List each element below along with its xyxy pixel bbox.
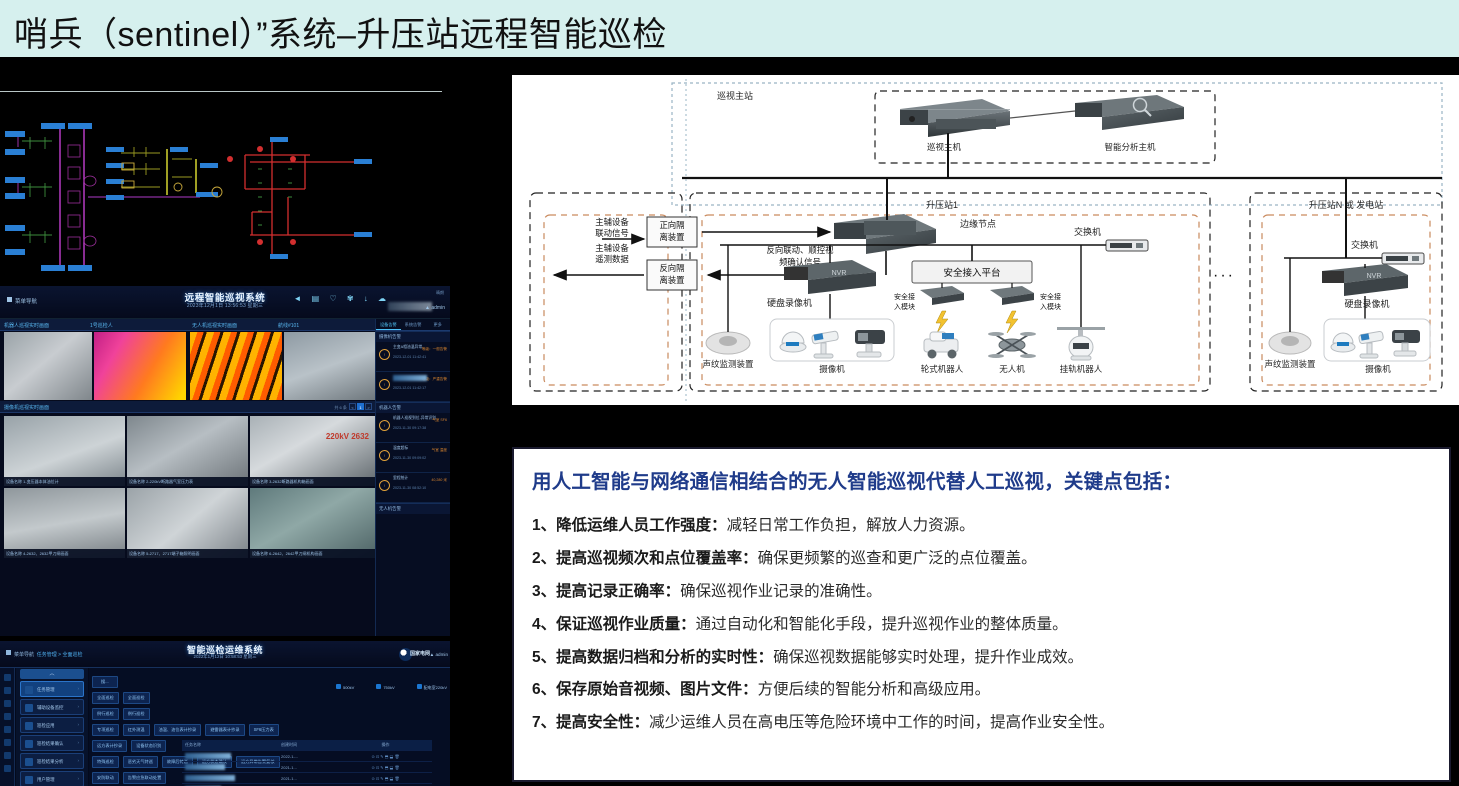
th-actions: 操作 xyxy=(336,742,432,748)
ris-robot-label: 机器人巡视实时画面 xyxy=(4,322,49,329)
key-point-num: 2、 xyxy=(532,550,556,567)
alarm-group-drone: 无人机告警 xyxy=(376,503,450,514)
om-user-label[interactable]: ▲ admin xyxy=(430,652,448,657)
th-task-name: 任务名称 xyxy=(182,742,278,748)
key-point-num: 5、 xyxy=(532,649,556,666)
tab-system-alarm[interactable]: 系统告警 xyxy=(401,319,426,330)
user-icon xyxy=(25,776,33,784)
label-switch-station1: 交换机 xyxy=(1074,226,1101,237)
key-point-num: 3、 xyxy=(532,583,556,600)
ris-page-count: 共 6 条 xyxy=(334,405,346,410)
sidebar-item-inspection-app[interactable]: 巡检应用› xyxy=(20,717,84,733)
video-tile-drone-thermal[interactable] xyxy=(190,332,282,400)
sidebar-item-label: 巡检结果分析 xyxy=(37,759,63,765)
tab-sf6[interactable]: SF6压力表 xyxy=(249,724,279,736)
sidebar-item-result-confirm[interactable]: 巡检结果确认› xyxy=(20,735,84,751)
alarm-time: 2023-11-30 09:17:38 xyxy=(393,426,447,430)
voltage-filter-750[interactable]: 750kV xyxy=(376,684,394,691)
alarm-icon: ! xyxy=(379,420,390,431)
tab-full-inspection-sub[interactable]: 全面巡检 xyxy=(123,692,150,704)
key-points-panel: 用人工智能与网络通信相结合的无人智能巡视代替人工巡视，关键点包括： 1、降低运维… xyxy=(512,447,1451,782)
key-point-item: 5、提高数据归档和分析的实时性：确保巡视数据能够实时处理，提升作业成效。 xyxy=(532,648,1431,667)
header-divider xyxy=(0,57,1459,69)
sidebar-item-label: 任务管理 xyxy=(37,687,55,693)
rail-icon xyxy=(4,739,11,746)
key-point-num: 1、 xyxy=(532,517,556,534)
chevron-right-icon: › xyxy=(78,704,79,709)
label-secure-module-2a: 安全接 xyxy=(1040,292,1061,301)
ris-drone-sublabel: 航线#101 xyxy=(278,322,299,329)
key-point-desc: 确保巡视数据能够实时处理，提升作业成效。 xyxy=(773,649,1083,666)
label-switch-station-n: 交换机 xyxy=(1351,239,1378,250)
tab-row-3: 专项巡检 红外测温 油温、油位表计抄录 避雷器表计抄录 SF6压力表 xyxy=(89,722,450,738)
stations-ellipsis: ··· xyxy=(1213,267,1235,284)
alarm-time: 2023-12-01 11:42:41 xyxy=(393,355,447,359)
tab-full-inspection[interactable]: 全面巡检 xyxy=(92,692,119,704)
tab-special-inspection[interactable]: 专项巡检 xyxy=(92,724,119,736)
camera-tile-4[interactable]: 设备名称 4-2632、2632甲刀闸画面 xyxy=(4,488,125,558)
sidebar-item-result-analysis[interactable]: 巡检结果分析› xyxy=(20,753,84,769)
sidebar-item-label: 巡检结果确认 xyxy=(37,741,63,747)
tab-routine-inspection-sub[interactable]: 例行巡检 xyxy=(123,708,150,720)
ris-alarm-sidebar: 设备告警 系统告警 更多 摄像机告警 ! 等级：一般告警 主变A相油温异常 20… xyxy=(375,319,450,636)
wireless-bolt-icon-1 xyxy=(936,311,948,333)
ris-datetime: 2023年12月1日 13:56:53 星期三 xyxy=(0,302,450,309)
om-search-input[interactable]: 搜... xyxy=(92,676,118,688)
sidebar-item-label: 用户管理 xyxy=(37,777,55,783)
pager-page-1[interactable]: 1 xyxy=(357,403,364,410)
om-datetime: 2022年1月12日 10:58:53 星期三 xyxy=(0,654,450,660)
sidebar-item-task-management[interactable]: 任务管理› xyxy=(20,681,84,697)
camera-caption-5: 设备名称 5-2717、2717端子箱照明画面 xyxy=(127,549,248,558)
key-point-desc: 确保巡视作业记录的准确性。 xyxy=(680,583,882,600)
sidebar-item-label: 巡检应用 xyxy=(37,723,55,729)
camera-tile-1[interactable]: 设备名称 1-变压器本体油位计 xyxy=(4,416,125,486)
label-nvr-station1: 硬盘录像机 xyxy=(767,297,812,308)
video-tile-robot-thermal[interactable] xyxy=(94,332,186,400)
ris-drone-section-bar: 无人机巡视实时画面 航线#101 xyxy=(188,319,375,331)
alarm-item[interactable]: ! 等级：一般告警 主变A相油温异常 2023-12-01 11:42:41 xyxy=(376,342,450,372)
architecture-diagram-panel: 巡视主站 巡视主机 智能分析主机 xyxy=(512,75,1459,405)
node-switch-station-n xyxy=(1382,253,1424,264)
ris-top-bar: 菜单导航 远程智能巡视系统 2023年12月1日 13:56:53 星期三 ◄ … xyxy=(0,286,450,319)
key-point-item: 2、提高巡视频次和点位覆盖率：确保更频繁的巡查和更广泛的点位覆盖。 xyxy=(532,549,1431,568)
alarm-icon: ! xyxy=(379,379,390,390)
key-point-item: 1、降低运维人员工作强度：减轻日常工作负担，解放人力资源。 xyxy=(532,516,1431,535)
key-point-bold: 提高巡视频次和点位覆盖率： xyxy=(556,550,758,567)
label-secure-module-2b: 入模块 xyxy=(1040,302,1061,311)
chevron-right-icon: › xyxy=(78,686,79,691)
camera-caption-1: 设备名称 1-变压器本体油位计 xyxy=(4,477,125,486)
label-main-station: 巡视主站 xyxy=(717,90,753,101)
label-nvr-badge-n: NVR xyxy=(1367,273,1382,280)
tab-special[interactable]: 特殊巡检 xyxy=(92,756,119,768)
label-secure-module-1b: 入模块 xyxy=(894,302,915,311)
label-drone: 无人机 xyxy=(999,364,1025,374)
key-point-bold: 保证巡视作业质量： xyxy=(556,616,696,633)
label-nvr-station-n: 硬盘录像机 xyxy=(1344,298,1389,309)
tab-oil-meter[interactable]: 油温、油位表计抄录 xyxy=(154,724,202,736)
label-nvr-badge: NVR xyxy=(832,270,847,277)
task-icon xyxy=(25,686,33,694)
tab-row-2: 例行巡检 例行巡检 xyxy=(89,706,450,722)
key-point-item: 3、提高记录正确率：确保巡视作业记录的准确性。 xyxy=(532,582,1431,601)
ris-robot-sublabel: 1号巡检人 xyxy=(90,322,113,329)
video-tile-drone-visible[interactable] xyxy=(284,332,375,400)
tab-emergency-handling[interactable]: 告警应急联动处置 xyxy=(123,772,167,784)
ris-user-label[interactable]: ▲ admin xyxy=(425,305,445,311)
checkbox-icon[interactable] xyxy=(376,684,381,689)
node-nvr-station-n: NVR xyxy=(1322,264,1408,296)
monitor-icon xyxy=(25,704,33,712)
ris-toolbar-icons[interactable]: ◄ ▤ ♡ ✾ ↓ ☁ xyxy=(294,294,390,303)
voltage-filter-group: 500kV 750kV 配电室220kV xyxy=(336,684,447,691)
camera-tile-6[interactable]: 设备名称 6-2642、2642甲刀闸机构画面 xyxy=(250,488,375,558)
om-top-bar: 菜单导航 任务管理 > 全面巡检 智能巡检运维系统 2022年1月12日 10:… xyxy=(0,641,450,668)
alarm-icon: ! xyxy=(379,349,390,360)
om-system-screenshot: 菜单导航 任务管理 > 全面巡检 智能巡检运维系统 2022年1月12日 10:… xyxy=(0,641,450,786)
alarm-item[interactable]: ! 40,280 米 里程统计 2023-11-30 08:52:10 xyxy=(376,473,450,503)
label-wheeled-robot: 轮式机器人 xyxy=(921,364,964,374)
label-reverse-isolation-2: 离装置 xyxy=(659,275,684,285)
tab-state-recognition[interactable]: 设备状态识别 xyxy=(131,740,166,752)
key-point-bold: 提高安全性： xyxy=(556,714,649,731)
label-camera-station1: 摄像机 xyxy=(819,364,845,374)
key-point-item: 4、保证巡视作业质量：通过自动化和智能化手段，提升巡视作业的整体质量。 xyxy=(532,615,1431,634)
chevron-right-icon: › xyxy=(78,776,79,781)
alarm-icon: ! xyxy=(379,480,390,491)
ris-robot-section-bar: 机器人巡视实时画面 1号巡检人 xyxy=(0,319,188,331)
app-icon xyxy=(25,722,33,730)
tab-routine-inspection[interactable]: 例行巡检 xyxy=(92,708,119,720)
node-secure-module-1 xyxy=(920,286,964,305)
sidebar-item-user-management[interactable]: 用户管理› xyxy=(20,771,84,786)
label-telemetry-2: 遥测数据 xyxy=(595,254,629,264)
rail-icon xyxy=(4,674,11,681)
om-task-table: 任务名称 创建时间 操作 2022-1-...⊙ ⊡ ✎ ⬒ ⬓ 🗑 2021-… xyxy=(182,740,432,786)
key-point-desc: 减轻日常工作负担，解放人力资源。 xyxy=(727,517,975,534)
table-header-row: 任务名称 创建时间 操作 xyxy=(182,740,432,751)
key-point-num: 7、 xyxy=(532,714,556,731)
alarm-icon: ! xyxy=(379,450,390,461)
node-wheeled-robot xyxy=(924,332,958,359)
om-brand-label: 国家电网 xyxy=(410,650,430,657)
th-create-time: 创建时间 xyxy=(278,742,336,748)
key-point-num: 4、 xyxy=(532,616,556,633)
label-reverse-isolation-1: 反向隔 xyxy=(659,263,684,273)
label-forward-isolation-1: 正向隔 xyxy=(659,220,684,230)
redacted-text xyxy=(393,375,427,381)
ris-alarm-tabs[interactable]: 设备告警 系统告警 更多 xyxy=(376,319,450,331)
alarm-time: 2023-11-30 08:52:10 xyxy=(393,486,447,490)
left-screenshot-column: 菜单导航 远程智能巡视系统 2023年12月1日 13:56:53 星期三 ◄ … xyxy=(0,69,450,786)
node-switch-station1 xyxy=(1106,240,1148,251)
label-telemetry-1: 主辅设备 xyxy=(595,243,629,253)
key-points-title: 用人工智能与网络通信相结合的无人智能巡视代替人工巡视，关键点包括： xyxy=(532,465,1431,494)
key-point-bold: 保存原始音视频、图片文件： xyxy=(556,681,758,698)
label-linkage-signal-2: 联动信号 xyxy=(595,228,629,238)
key-point-num: 6、 xyxy=(532,681,556,698)
camera-ptz-icon-n xyxy=(1392,330,1420,356)
zone-main-station-outer xyxy=(672,83,1442,205)
camera-caption-4: 设备名称 4-2632、2632甲刀闸画面 xyxy=(4,549,125,558)
alarm-tag: 40,280 米 xyxy=(431,478,447,483)
camera-tile-2[interactable]: 设备名称 2-220kV断路器气室压力表 xyxy=(127,416,248,486)
camera-caption-2: 设备名称 2-220kV断路器气室压力表 xyxy=(127,477,248,486)
chevron-right-icon: › xyxy=(78,740,79,745)
ris-drone-label: 无人机巡视实时画面 xyxy=(192,322,237,329)
tab-security-linkage[interactable]: 安防联动 xyxy=(92,772,119,784)
om-menu-column: ︿ 任务管理› 辅助设备监控› 巡检应用› 巡检结果确认› 巡检结果分析› 用户… xyxy=(16,668,88,786)
rail-icon xyxy=(4,765,11,772)
key-point-desc: 通过自动化和智能化手段，提升巡视作业的整体质量。 xyxy=(696,616,1068,633)
voltage-filter-220[interactable]: 配电室220kV xyxy=(417,684,447,691)
rail-icon xyxy=(4,687,11,694)
pager-next[interactable]: > xyxy=(365,403,372,410)
label-analysis-host: 智能分析主机 xyxy=(1104,142,1156,152)
key-point-desc: 确保更频繁的巡查和更广泛的点位覆盖。 xyxy=(758,550,1037,567)
node-secure-module-2 xyxy=(990,286,1034,305)
camera-overlay-text: 220kV 2632 xyxy=(326,432,369,441)
tab-device-alarm[interactable]: 设备告警 xyxy=(376,319,401,330)
alarm-time: 2023-12-01 11:42:17 xyxy=(393,386,447,390)
key-points-list: 1、降低运维人员工作强度：减轻日常工作负担，解放人力资源。 2、提高巡视频次和点… xyxy=(532,516,1431,733)
key-point-desc: 减少运维人员在高电压等危险环境中工作的时间，提高作业安全性。 xyxy=(649,714,1114,731)
link-host-to-analysis xyxy=(1010,111,1075,118)
om-content-area: 搜... 全面巡检 全面巡检 例行巡检 例行巡检 专项巡检 红外测温 油温、油位… xyxy=(89,668,450,786)
checkbox-icon[interactable] xyxy=(417,684,422,689)
tab-bad-weather[interactable]: 恶劣天气特巡 xyxy=(123,756,158,768)
analysis-icon xyxy=(25,758,33,766)
label-rail-robot: 挂轨机器人 xyxy=(1060,364,1103,374)
alarm-tag: 气室 温度 xyxy=(432,448,447,453)
sld-top-divider xyxy=(0,91,442,92)
node-rail-robot xyxy=(1057,327,1105,360)
node-analysis-host xyxy=(1075,95,1184,130)
camera-caption-3: 设备名称 3-2632断路器机构箱画面 xyxy=(250,477,375,486)
ris-camera-section-bar: 摄像机巡视实时画面 共 6 条 <1> xyxy=(0,401,375,413)
sidebar-item-aux-monitor[interactable]: 辅助设备监控› xyxy=(20,699,84,715)
alarm-group-robot: 机器人告警 xyxy=(376,402,450,413)
voltage-filter-500[interactable]: 500kV xyxy=(336,684,354,691)
table-row[interactable]: 2021-1...⊙ ⊡ ✎ ⬒ ⬓ 🗑 xyxy=(182,773,432,784)
label-forward-isolation-2: 离装置 xyxy=(659,232,684,242)
key-point-item: 6、保存原始音视频、图片文件：方便后续的智能分析和高级应用。 xyxy=(532,680,1431,699)
node-inspection-host xyxy=(900,99,1010,137)
label-secure-platform: 安全接入平台 xyxy=(943,267,1000,279)
rail-icon xyxy=(4,713,11,720)
label-inspection-host: 巡视主机 xyxy=(927,142,962,152)
architecture-diagram-svg: 巡视主站 巡视主机 智能分析主机 xyxy=(512,75,1459,405)
label-voiceprint-station1: 声纹监测装置 xyxy=(702,359,754,369)
key-point-bold: 提高记录正确率： xyxy=(556,583,680,600)
rail-icon xyxy=(4,752,11,759)
table-row[interactable]: 2022-1-...⊙ ⊡ ✎ ⬒ ⬓ 🗑 xyxy=(182,751,432,762)
slide-root: 哨兵（sentinel）”系统–升压站远程智能巡检 xyxy=(0,0,1459,786)
page-title: 哨兵（sentinel）”系统–升压站远程智能巡检 xyxy=(14,7,667,56)
checkbox-icon[interactable] xyxy=(336,684,341,689)
slide-header: 哨兵（sentinel）”系统–升压站远程智能巡检 xyxy=(0,0,1459,57)
alarm-time: 2023-11-30 09:09:02 xyxy=(393,456,447,460)
pager-prev[interactable]: < xyxy=(349,403,356,410)
key-point-desc: 方便后续的智能分析和高级应用。 xyxy=(758,681,991,698)
alarm-group-camera: 摄像机告警 xyxy=(376,331,450,342)
label-voiceprint-station-n: 声纹监测装置 xyxy=(1264,359,1316,369)
ris-camera-label: 摄像机巡视实时画面 xyxy=(4,404,49,411)
key-point-item: 7、提高安全性：减少运维人员在高电压等危险环境中工作的时间，提高作业安全性。 xyxy=(532,713,1431,732)
single-line-diagram-screenshot xyxy=(0,69,450,284)
label-camera-station-n: 摄像机 xyxy=(1365,364,1391,374)
remote-inspection-system-screenshot: 菜单导航 远程智能巡视系统 2023年12月1日 13:56:53 星期三 ◄ … xyxy=(0,286,450,636)
om-icon-rail[interactable] xyxy=(0,668,15,786)
camera-ptz-icon-1 xyxy=(855,330,885,357)
ris-pager[interactable]: 共 6 条 <1> xyxy=(334,403,372,411)
camera-caption-6: 设备名称 6-2642、2642甲刀闸机构画面 xyxy=(250,549,375,558)
label-secure-module-1a: 安全接 xyxy=(894,292,915,301)
om-collapse-toggle[interactable]: ︿ xyxy=(20,669,84,679)
tab-infrared[interactable]: 红外测温 xyxy=(123,724,150,736)
wireless-bolt-icon-2 xyxy=(1006,311,1018,333)
voiceprint-sensor-icon-n xyxy=(1281,336,1299,346)
alarm-item[interactable]: ! 气室 SF6 机器人巡视到位-异常识别 2023-11-30 09:17:3… xyxy=(376,413,450,443)
confirm-icon xyxy=(25,740,33,748)
table-row[interactable]: 2021-1...⊙ ⊡ ✎ ⬒ ⬓ 🗑 xyxy=(182,762,432,773)
camera-tile-3[interactable]: 220kV 2632 设备名称 3-2632断路器机构箱画面 xyxy=(250,416,375,486)
key-point-bold: 提高数据归档和分析的实时性： xyxy=(556,649,773,666)
sld-graphic xyxy=(0,97,450,282)
key-point-bold: 降低运维人员工作强度： xyxy=(556,517,727,534)
voiceprint-sensor-icon xyxy=(719,336,737,346)
alarm-item[interactable]: ! 等级：严重告警 2023-12-01 11:42:17 xyxy=(376,372,450,402)
rail-icon xyxy=(4,700,11,707)
node-edge-node xyxy=(834,214,936,254)
alarm-tag: 等级：一般告警 xyxy=(422,347,447,352)
tab-more[interactable]: 更多 xyxy=(425,319,450,330)
label-reverse-signal-1: 反向联动、顺控视 xyxy=(767,245,835,255)
weather-icon: 晴朗 xyxy=(436,290,444,296)
sidebar-item-label: 辅助设备监控 xyxy=(37,705,63,711)
rail-icon xyxy=(4,726,11,733)
label-edge-node: 边缘节点 xyxy=(960,218,996,229)
label-linkage-signal-1: 主辅设备 xyxy=(595,217,629,227)
alarm-tag: 气室 SF6 xyxy=(432,418,447,423)
node-drone xyxy=(988,332,1036,358)
camera-tile-5[interactable]: 设备名称 5-2717、2717端子箱照明画面 xyxy=(127,488,248,558)
video-tile-robot-visible[interactable] xyxy=(4,332,92,400)
chevron-right-icon: › xyxy=(78,722,79,727)
tab-arrester-meter[interactable]: 避雷器表计抄录 xyxy=(205,724,244,736)
tab-remote-meter[interactable]: 远方表计抄录 xyxy=(92,740,127,752)
tab-row-1: 全面巡检 全面巡检 xyxy=(89,690,450,706)
label-station-1: 升压站1 xyxy=(926,199,958,210)
chevron-right-icon: › xyxy=(78,758,79,763)
alarm-item[interactable]: ! 气室 温度 温度超标 2023-11-30 09:09:02 xyxy=(376,443,450,473)
